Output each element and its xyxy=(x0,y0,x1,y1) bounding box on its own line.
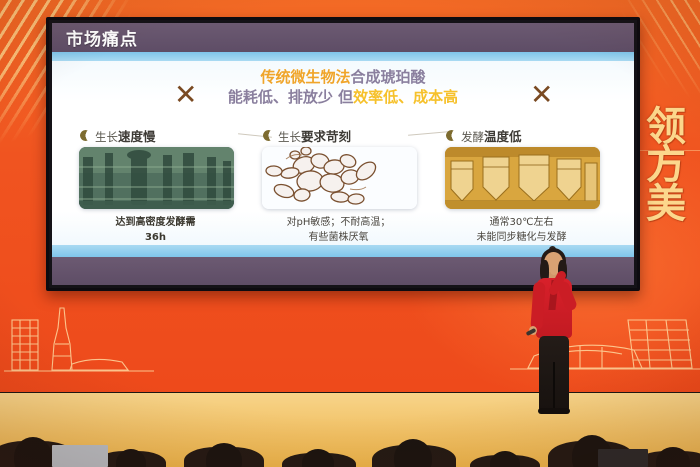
audience-head xyxy=(394,439,432,467)
audience-head xyxy=(302,449,334,467)
cross-mark-icon-right: ✕ xyxy=(530,81,553,109)
screen-surface: 市场痛点 传统微生物法合成琥珀酸 能耗低、排放少 但效率低、成本高 ✕ ✕ xyxy=(52,23,634,285)
column-2-caption: 对pH敏感；不耐高温； 有些菌株厌氧 xyxy=(259,216,418,245)
column-2-caption-line1: 对pH敏感；不耐高温； xyxy=(259,216,418,231)
column-3-caption: 通常30℃左右 未能同步糖化与发酵 xyxy=(442,216,601,245)
headline-line2-gold: 效率低、成本高 xyxy=(353,88,458,106)
column-2-heading: 生长要求苛刻 xyxy=(259,127,424,143)
slide-title: 市场痛点 xyxy=(66,25,138,50)
cross-mark-icon-left: ✕ xyxy=(174,81,197,109)
skyline-graphic-left xyxy=(4,298,154,378)
slide-top-accent-strip xyxy=(52,52,634,61)
moon-bullet-icon xyxy=(263,130,274,141)
column-2-head-light: 生长 xyxy=(278,130,301,144)
headline-line1-purple: 合成琥珀酸 xyxy=(351,68,426,86)
slide-column-2: 生长要求苛刻 xyxy=(259,127,424,245)
column-3-head-bold: 温度低 xyxy=(484,129,522,144)
backdrop-char-1: 领 xyxy=(646,108,686,146)
slide-columns: 生长速度慢 xyxy=(52,127,634,257)
slide-title-bar: 市场痛点 xyxy=(52,23,634,52)
backdrop-gold-characters: 领 方 美 xyxy=(640,108,692,223)
headline-line1-orange: 传统微生物法 xyxy=(260,68,350,86)
column-3-heading: 发酵温度低 xyxy=(442,127,607,143)
slide: 市场痛点 传统微生物法合成琥珀酸 能耗低、排放少 但效率低、成本高 ✕ ✕ xyxy=(52,23,634,285)
moon-bullet-icon xyxy=(80,130,91,141)
column-3-caption-line2: 未能同步糖化与发酵 xyxy=(442,231,601,246)
stage-scene: 领 方 美 xyxy=(0,0,700,467)
slide-column-1: 生长速度慢 xyxy=(76,127,241,245)
headline-line2-purple: 能耗低、排放少 但 xyxy=(228,88,353,106)
column-1-head-light: 生长 xyxy=(95,130,118,144)
audience-head xyxy=(656,447,690,467)
column-2-head-bold: 要求苛刻 xyxy=(301,129,351,144)
audience xyxy=(0,413,700,467)
backdrop-char-2: 方 xyxy=(646,146,686,184)
column-1-caption: 达到高密度发酵需 36h xyxy=(76,216,235,245)
audience-laptop xyxy=(598,449,648,467)
presenter-leg-split xyxy=(553,362,555,410)
column-1-caption-line2: 36h xyxy=(76,231,235,246)
fermentation-plant-photo xyxy=(79,147,234,209)
column-3-caption-line1: 通常30℃左右 xyxy=(442,216,601,231)
column-3-head-light: 发酵 xyxy=(461,130,484,144)
presenter xyxy=(520,252,590,417)
column-1-head-bold: 速度慢 xyxy=(118,129,156,144)
presenter-right-hand xyxy=(550,266,558,275)
yeast-microscope-photo xyxy=(262,147,417,209)
backdrop-char-3: 美 xyxy=(646,185,686,223)
audience-laptop xyxy=(52,445,108,467)
moon-bullet-icon xyxy=(446,130,457,141)
column-1-heading: 生长速度慢 xyxy=(76,127,241,143)
audience-head xyxy=(490,451,520,467)
slide-column-3: 发酵温度低 xyxy=(442,127,607,245)
fermentation-tanks-photo xyxy=(445,147,600,209)
column-1-caption-line1: 达到高密度发酵需 xyxy=(76,216,235,231)
presentation-clicker xyxy=(526,328,537,336)
column-2-caption-line2: 有些菌株厌氧 xyxy=(259,231,418,246)
